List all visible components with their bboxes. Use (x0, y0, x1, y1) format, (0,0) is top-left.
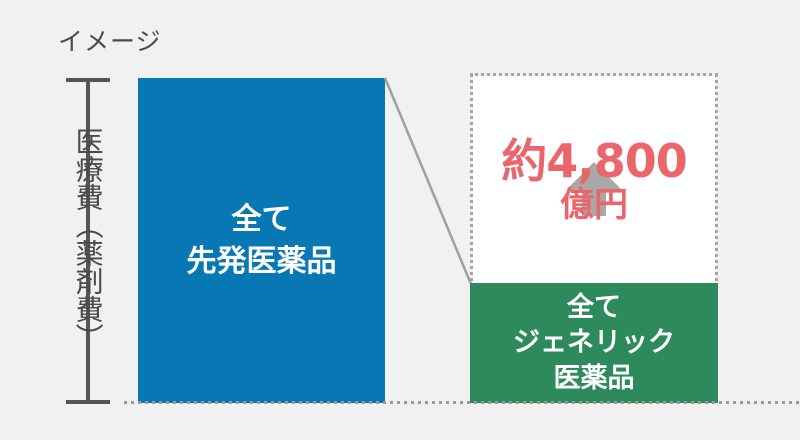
savings-amount-value: 約4,800 (470, 138, 718, 184)
bar-generic-drugs-label: 全て ジェネリック 医薬品 (513, 290, 675, 395)
baseline-axis (124, 401, 800, 404)
bar-brand-name-drugs: 全て 先発医薬品 (138, 78, 385, 403)
page-title: イメージ (58, 22, 162, 58)
bar-generic-drugs: 全て ジェネリック 医薬品 (470, 283, 718, 403)
chart-canvas: イメージ 医療費（薬剤費） 全て 先発医薬品 約4,800 億円 全て ジェネリ… (0, 0, 800, 440)
y-axis-label: 医療費（薬剤費） (60, 108, 116, 370)
connector-line (380, 70, 480, 295)
savings-amount-unit: 億円 (470, 188, 718, 222)
y-axis-cap-bottom (66, 400, 110, 404)
bar-brand-name-drugs-label: 全て 先発医薬品 (187, 199, 337, 282)
